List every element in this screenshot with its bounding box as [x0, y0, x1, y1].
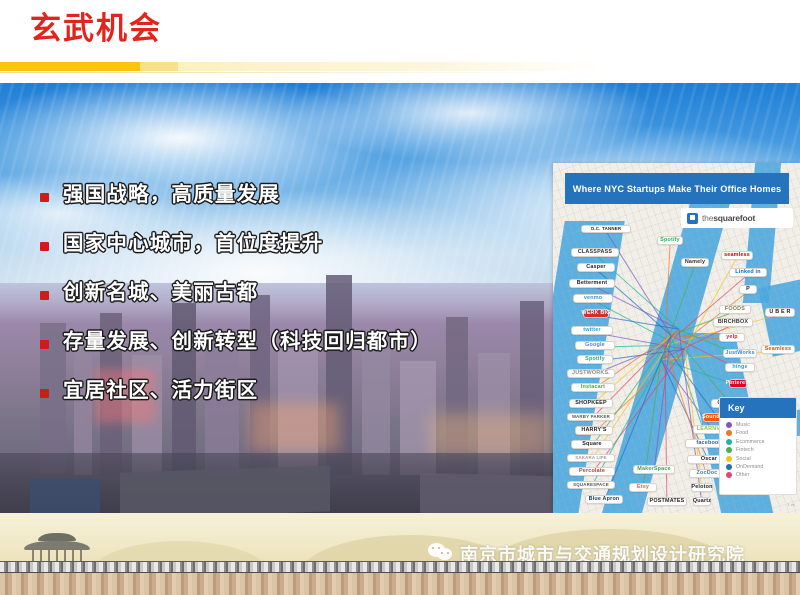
- key-item-list: MusicFoodEcommerceFintechSocialOnDemandO…: [720, 418, 796, 478]
- company-logo-chip: MakerSpace: [633, 465, 675, 474]
- foreground-building: [30, 479, 100, 515]
- wechat-dot: [432, 547, 434, 549]
- bullet-label: 宜居社区、活力街区: [63, 376, 258, 404]
- company-logo-chip: SHOPKEEP: [569, 399, 613, 408]
- company-logo-chip: Linked in: [729, 268, 767, 277]
- company-logo-chip: SQUARESPACE: [567, 481, 615, 489]
- key-item-label: Fintech: [736, 447, 754, 453]
- square-logo-icon: [687, 213, 698, 224]
- bullet-dot-icon: [40, 242, 49, 251]
- slide-header: 玄武机会: [0, 0, 800, 82]
- wechat-dot: [447, 552, 449, 554]
- key-color-dot: [726, 447, 732, 453]
- company-logo-chip: Quartz: [693, 497, 711, 506]
- company-logo-chip: P: [739, 285, 757, 294]
- bullet-label: 存量发展、创新转型（科技回归都市）: [63, 327, 432, 355]
- wechat-dot: [441, 552, 443, 554]
- key-item-label: Social: [736, 456, 751, 462]
- map-key-legend: Key MusicFoodEcommerceFintechSocialOnDem…: [719, 397, 797, 495]
- stone-band: [0, 573, 800, 595]
- key-color-dot: [726, 464, 732, 470]
- accent-rule-segment-2: [140, 62, 178, 71]
- company-logo-chip: Spotify: [657, 236, 683, 245]
- accent-rule-segment-3: [178, 62, 603, 71]
- bullet-dot-icon: [40, 340, 49, 349]
- key-item: Food: [726, 430, 796, 436]
- bullet-dot-icon: [40, 193, 49, 202]
- company-logo-chip: Blue Apron: [585, 495, 623, 504]
- key-item: Social: [726, 456, 796, 462]
- company-logo-chip: yelp: [719, 333, 745, 342]
- slide-root: 玄武机会: [0, 0, 800, 595]
- key-color-dot: [726, 472, 732, 478]
- key-item: Music: [726, 422, 796, 428]
- company-logo-chip: Spotify: [577, 355, 613, 364]
- company-logo-chip: Betterment: [569, 279, 615, 288]
- company-logo-chip: U B E R: [765, 308, 795, 317]
- key-color-dot: [726, 430, 732, 436]
- list-item: 存量发展、创新转型（科技回归都市）: [40, 327, 540, 355]
- slide-footer: 南京市城市与交通规划设计研究院: [0, 513, 800, 595]
- company-logo-chip: O.C. TANNER: [581, 225, 631, 233]
- key-item-label: Food: [736, 430, 748, 436]
- accent-rule-hairline: [0, 72, 560, 73]
- accent-rule-segment-1: [0, 62, 140, 71]
- wechat-bubble-small: [437, 548, 452, 560]
- bullet-label: 国家中心城市，首位度提升: [63, 229, 323, 257]
- list-item: 宜居社区、活力街区: [40, 376, 540, 404]
- bullet-dot-icon: [40, 291, 49, 300]
- company-logo-chip: Casper: [577, 263, 615, 272]
- company-logo-chip: Namely: [681, 258, 709, 267]
- company-logo-chip: hinge: [725, 363, 755, 372]
- roof-tile-band: [0, 561, 800, 573]
- key-item: Ecommerce: [726, 439, 796, 445]
- company-logo-chip: POSTMATES: [647, 497, 687, 506]
- infographic-title: Where NYC Startups Make Their Office Hom…: [573, 184, 781, 194]
- key-item-label: OnDemand: [736, 464, 763, 470]
- key-item: OnDemand: [726, 464, 796, 470]
- company-logo-chip: JustWorks: [723, 349, 757, 358]
- bullet-label: 强国战略，高质量发展: [63, 180, 280, 208]
- company-logo-chip: BIRCHBOX: [713, 318, 753, 327]
- key-color-dot: [726, 439, 732, 445]
- foreground-building: [120, 465, 330, 515]
- key-color-dot: [726, 422, 732, 428]
- wechat-icon: [428, 543, 454, 561]
- company-logo-chip: Peloton: [691, 483, 713, 492]
- key-item-label: Music: [736, 422, 750, 428]
- pavilion-roof-lower: [24, 541, 90, 550]
- brand-label: thesquarefoot: [702, 213, 755, 223]
- key-item: Fintech: [726, 447, 796, 453]
- company-logo-chip: Google: [575, 341, 615, 350]
- company-logo-chip: FOODS: [719, 305, 751, 314]
- company-logo-chip: JUSTWORKS.: [567, 369, 615, 378]
- list-item: 国家中心城市，首位度提升: [40, 229, 540, 257]
- key-item: Other: [726, 472, 796, 478]
- key-item-label: Other: [736, 472, 749, 478]
- company-logo-chip: WERK BIG: [583, 309, 609, 318]
- company-logo-chip: HARRY'S: [575, 426, 613, 435]
- company-logo-chip: Instacart: [571, 383, 615, 392]
- key-title: Key: [720, 398, 796, 418]
- squarefoot-brand: thesquarefoot: [681, 208, 793, 228]
- company-logo-chip: WARBY PARKER: [567, 413, 615, 421]
- key-color-dot: [726, 456, 732, 462]
- key-item-label: Ecommerce: [736, 439, 765, 445]
- map-scale-label: 1 mi: [787, 502, 795, 507]
- company-logo-chip: seamless: [721, 251, 753, 260]
- infographic-title-banner: Where NYC Startups Make Their Office Hom…: [565, 173, 789, 204]
- company-logo-chip: CLASSPASS: [571, 248, 619, 257]
- company-logo-chip: Etsy: [629, 483, 657, 492]
- bullet-list: 强国战略，高质量发展 国家中心城市，首位度提升 创新名城、美丽古都 存量发展、创…: [40, 180, 540, 425]
- company-logo-chip: Pinterest: [729, 379, 747, 388]
- company-logo-chip: venmo: [573, 294, 613, 303]
- company-logo-chip: twitter: [571, 326, 613, 335]
- nyc-startups-infographic: Where NYC Startups Make Their Office Hom…: [553, 163, 800, 513]
- company-logo-chip: Square: [571, 440, 613, 449]
- company-logo-chip: SAKARA LIFE: [567, 454, 615, 462]
- list-item: 创新名城、美丽古都: [40, 278, 540, 306]
- bullet-dot-icon: [40, 389, 49, 398]
- bullet-label: 创新名城、美丽古都: [63, 278, 258, 306]
- wechat-dot: [438, 547, 440, 549]
- company-logo-chip: Percolate: [569, 467, 615, 476]
- pavilion-roof-upper: [38, 533, 76, 541]
- company-logo-chip: Seamless: [761, 345, 795, 354]
- accent-rule: [0, 62, 800, 72]
- page-title: 玄武机会: [30, 10, 162, 48]
- list-item: 强国战略，高质量发展: [40, 180, 540, 208]
